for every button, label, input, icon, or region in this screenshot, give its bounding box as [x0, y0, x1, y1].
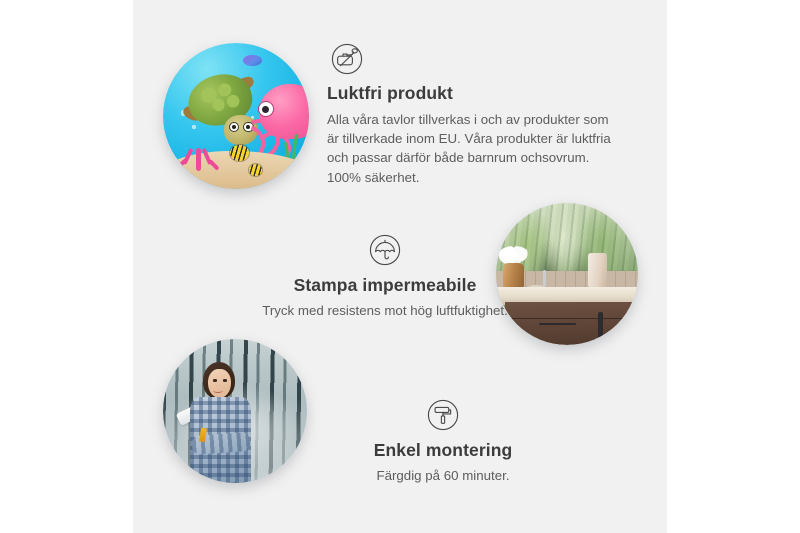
yellow-striped-fish — [249, 164, 262, 176]
soap-dispenser — [588, 253, 606, 289]
door-handle — [598, 312, 603, 342]
pink-coral — [178, 134, 222, 172]
painter-scene — [163, 339, 307, 483]
woman-eye — [213, 379, 216, 381]
infographic-canvas: Luktfri produkt Alla våra tavlor tillver… — [133, 0, 667, 533]
feature-title: Stampa impermeabile — [215, 275, 555, 296]
woman-smile — [213, 387, 223, 392]
underwater-scene — [163, 43, 309, 189]
paint-roller-icon — [425, 397, 461, 433]
feature-body: Tryck med resistens mot hög luftfuktighe… — [215, 301, 555, 320]
feature-odourless: Luktfri produkt Alla våra tavlor tillver… — [327, 41, 622, 187]
bubble-icon — [192, 125, 196, 129]
drawer-handle — [539, 323, 576, 325]
feature-title: Enkel montering — [298, 440, 588, 461]
underwater-kids-mural-photo — [163, 43, 309, 189]
painter-forest-mural-photo — [163, 339, 307, 483]
infographic-frame: Luktfri produkt Alla våra tavlor tillver… — [0, 0, 800, 533]
umbrella-icon — [367, 232, 403, 268]
feature-title: Luktfri produkt — [327, 83, 622, 104]
woman-face — [208, 369, 230, 398]
woman-eye — [223, 379, 226, 381]
feature-body: Färgdig på 60 minuter. — [298, 466, 588, 485]
feature-body: Alla våra tavlor tillverkas i och av pro… — [327, 110, 622, 187]
feature-waterproof: Stampa impermeabile Tryck med resistens … — [215, 232, 555, 320]
no-fragrance-icon — [329, 41, 365, 77]
feature-easy-install: Enkel montering Färgdig på 60 minuter. — [298, 397, 588, 485]
